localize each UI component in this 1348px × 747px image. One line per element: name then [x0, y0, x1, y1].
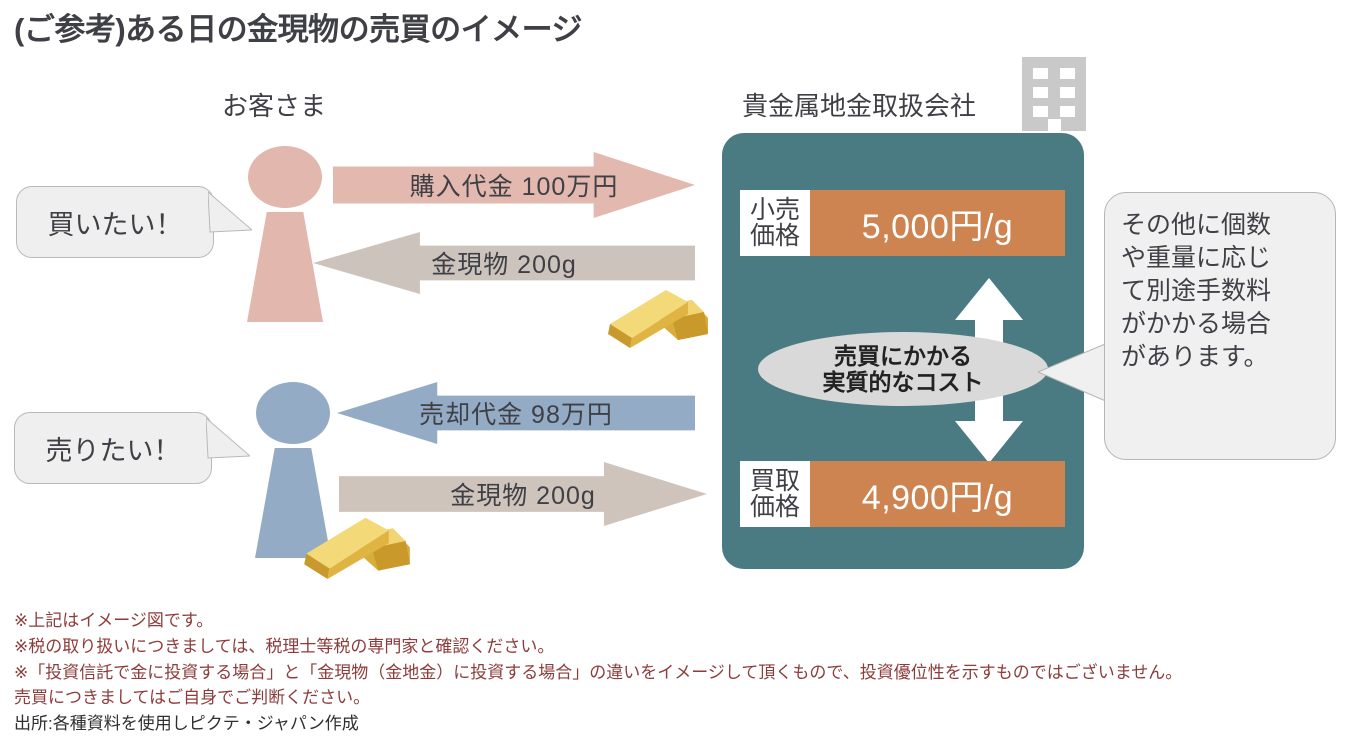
buy-payment-label: 購入代金 100万円 — [333, 152, 695, 218]
purchase-price-label-line1: 買取 — [750, 468, 800, 494]
buy-bubble-text: 買いたい！ — [48, 203, 183, 242]
company-heading: 貴金属地金取扱会社 — [742, 86, 976, 123]
page-title: (ご参考)ある日の金現物の売買のイメージ — [14, 4, 582, 49]
footnote-item: ※「投資信託で金に投資する場合」と「金現物（金地金）に投資する場合」の違いをイメ… — [14, 660, 1344, 686]
retail-price-label-line1: 小売 — [750, 197, 800, 223]
customer-heading: お客さま — [222, 86, 326, 123]
retail-price-value: 5,000円/g — [810, 190, 1065, 256]
sell-speech-bubble: 売りたい！ — [14, 412, 212, 484]
cost-note-line1: 売買にかかる — [834, 343, 972, 369]
person-head — [256, 382, 330, 444]
diagram-canvas: (ご参考)ある日の金現物の売買のイメージ お客さま 貴金属地金取扱会社 小売 価… — [0, 0, 1348, 747]
gold-bars-icon — [604, 272, 710, 352]
purchase-price-row: 買取 価格 4,900円/g — [740, 461, 1065, 527]
callout-line: その他に個数 — [1121, 209, 1321, 242]
building-icon — [1018, 55, 1090, 133]
callout-line: や重量に応じ — [1121, 242, 1321, 275]
sell-bubble-text: 売りたい！ — [46, 429, 181, 468]
cost-note-line2: 実質的なコスト — [823, 369, 984, 395]
callout-line: があります。 — [1121, 341, 1321, 374]
gold-bars-icon — [300, 498, 412, 584]
person-body — [247, 212, 323, 322]
callout-line: て別途手数料 — [1121, 275, 1321, 308]
sell-bubble-tail-icon — [206, 416, 250, 464]
retail-price-label-line2: 価格 — [750, 223, 800, 249]
footnote-item: 売買につきましてはご自身でご判断ください。 — [14, 685, 1344, 711]
cost-ellipse-note: 売買にかかる 実質的なコスト — [758, 332, 1048, 406]
callout-tail-icon — [1038, 338, 1112, 410]
callout-line: がかかる場合 — [1121, 308, 1321, 341]
footnotes: ※上記はイメージ図です。 ※税の取り扱いにつきましては、税理士等税の専門家と確認… — [14, 608, 1344, 737]
purchase-price-label-line2: 価格 — [750, 494, 800, 520]
sell-proceeds-label: 売却代金 98万円 — [337, 382, 695, 444]
purchase-price-label: 買取 価格 — [740, 461, 810, 527]
fees-callout: その他に個数 や重量に応じ て別途手数料 がかかる場合 があります。 — [1104, 192, 1336, 460]
retail-price-row: 小売 価格 5,000円/g — [740, 190, 1065, 256]
retail-price-label: 小売 価格 — [740, 190, 810, 256]
footnote-item: ※税の取り扱いにつきましては、税理士等税の専門家と確認ください。 — [14, 634, 1344, 660]
source-note: 出所:各種資料を使用しピクテ・ジャパン作成 — [14, 711, 1344, 737]
person-head — [248, 146, 322, 208]
purchase-price-value: 4,900円/g — [810, 461, 1065, 527]
footnote-item: ※上記はイメージ図です。 — [14, 608, 1344, 634]
buy-speech-bubble: 買いたい！ — [16, 186, 214, 258]
